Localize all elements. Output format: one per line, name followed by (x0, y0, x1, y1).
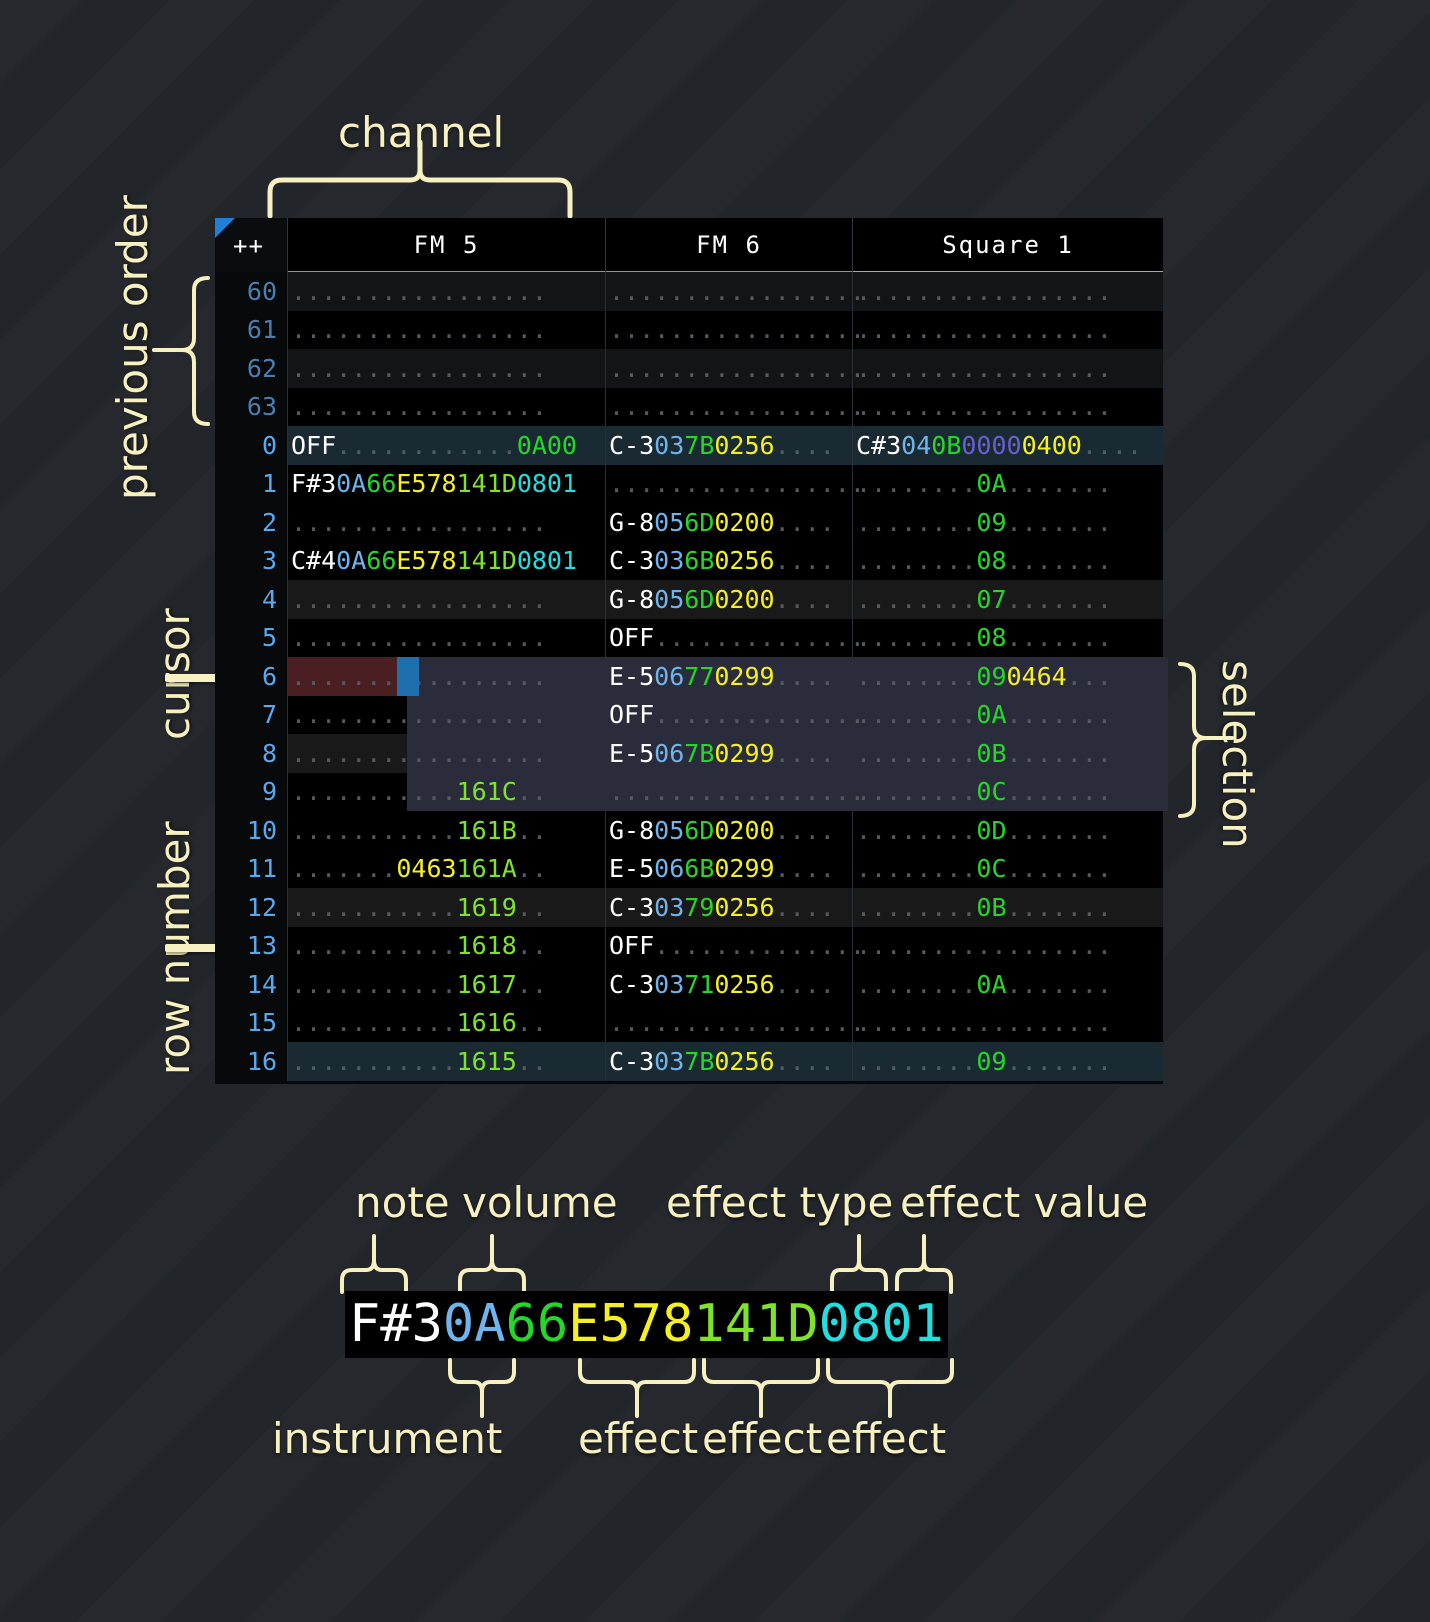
pattern-token: ................. (291, 508, 547, 537)
pattern-token: ................. (856, 931, 1112, 960)
row-number-cell: 0 (215, 426, 287, 465)
pattern-token: 6D (684, 585, 714, 614)
pattern-token: 6B (684, 854, 714, 883)
pattern-token: 66 (366, 469, 396, 498)
pattern-cell-fm5[interactable]: ...........161B.. (287, 811, 605, 850)
pattern-token: .... (775, 739, 835, 768)
pattern-token: 1616 (457, 1008, 517, 1037)
pattern-token: 08 (976, 546, 1006, 575)
pattern-cell-fm5[interactable]: ................. (287, 503, 605, 542)
pattern-token: .. (517, 816, 547, 845)
row-number-cell: 11 (215, 850, 287, 889)
pattern-cell-square1[interactable]: ........0B....... (852, 888, 1168, 927)
pattern-token: 77 (684, 662, 714, 691)
pattern-token: .. (517, 1047, 547, 1076)
pattern-cell-square1[interactable]: ................. (852, 349, 1168, 388)
legend-token: 141D (693, 1294, 818, 1354)
effect1-brace (578, 1358, 696, 1406)
pattern-token: ... (1067, 662, 1112, 691)
pattern-token: .. (517, 1008, 547, 1037)
pattern-token: OFF (609, 623, 654, 652)
pattern-token: ................. (609, 392, 865, 421)
channel-header-square1[interactable]: Square 1 (852, 218, 1163, 272)
pattern-token: 0256 (714, 970, 774, 999)
pattern-token: ................. (609, 277, 865, 306)
pattern-token: 0A (976, 970, 1006, 999)
pattern-token: ................. (291, 585, 547, 614)
pattern-token: 0801 (517, 469, 577, 498)
pattern-token: 0B (976, 739, 1006, 768)
annotation-effect-3: effect (826, 1414, 946, 1463)
row-number-cell: 6 (215, 657, 287, 696)
pattern-cell-fm6[interactable]: OFF.............. (605, 619, 852, 658)
pattern-token: C#4 (291, 546, 336, 575)
pattern-token: 05 (654, 816, 684, 845)
row-cells: ...........1619..C-303790256............… (287, 888, 1168, 927)
pattern-token: 09 (976, 508, 1006, 537)
pattern-token: ........ (856, 469, 976, 498)
pattern-token: 0D (976, 816, 1006, 845)
pattern-cell-square1[interactable]: ........07....... (852, 580, 1168, 619)
pattern-cell-fm5[interactable]: ................. (287, 388, 605, 427)
selection-brace (1178, 662, 1228, 820)
row-number-cell: 5 (215, 619, 287, 658)
row-number-cell: 13 (215, 927, 287, 966)
pattern-token: ........... (291, 970, 457, 999)
row-cells: ...........161C.........................… (287, 773, 1168, 812)
pattern-cell-square1[interactable]: ........0D....... (852, 811, 1168, 850)
pattern-token: ................. (291, 392, 547, 421)
row-cells: ...........1616.........................… (287, 1004, 1168, 1043)
pattern-token: .... (775, 893, 835, 922)
pattern-token: 66 (366, 546, 396, 575)
pattern-token: 03 (654, 893, 684, 922)
pattern-token: .... (775, 546, 835, 575)
pattern-token: ........ (856, 662, 976, 691)
row-number-cell: 15 (215, 1004, 287, 1043)
pattern-token: .... (775, 662, 835, 691)
pattern-token: 0B (931, 431, 961, 460)
pattern-token: 0400 (1022, 431, 1082, 460)
pattern-token: ............ (336, 431, 517, 460)
pattern-cell-square1[interactable]: ................. (852, 1004, 1168, 1043)
pattern-cell-fm6[interactable]: ................. (605, 465, 852, 504)
row-cells: C#40A66E578141D0801C-3036B0256..........… (287, 542, 1168, 581)
channel-header-fm6[interactable]: FM 6 (605, 218, 852, 272)
pattern-token: ................. (609, 777, 865, 806)
pattern-token: ....... (1007, 739, 1112, 768)
pattern-cell-fm6[interactable]: ................. (605, 1004, 852, 1043)
pattern-cell-fm6[interactable]: C-303790256.... (605, 888, 852, 927)
pattern-cell-fm5[interactable]: C#40A66E578141D0801 (287, 542, 605, 581)
table-row[interactable]: 10...........161B..G-8056D0200..........… (215, 811, 1163, 850)
row-cells: ...........1615..C-3037B0256............… (287, 1042, 1168, 1081)
pattern-cell-fm6[interactable]: E-506770299.... (605, 657, 852, 696)
pattern-token: 0A (336, 546, 366, 575)
pattern-cell-fm5[interactable]: ................. (287, 311, 605, 350)
pattern-token: ........... (291, 816, 457, 845)
pattern-token: .. (517, 970, 547, 999)
channel-header-label: Square 1 (942, 231, 1074, 259)
pattern-cell-fm5[interactable]: ...........1615.. (287, 1042, 605, 1081)
pattern-token: 161A (457, 854, 517, 883)
pattern-cell-fm5[interactable]: F#30A66E578141D0801 (287, 465, 605, 504)
pattern-cell-fm6[interactable]: ................. (605, 311, 852, 350)
table-row[interactable]: 16...........1615..C-3037B0256..........… (215, 1042, 1163, 1081)
pattern-token: .... (775, 431, 835, 460)
pattern-cell-square1[interactable]: ........0A....... (852, 696, 1168, 735)
row-number-cell: 9 (215, 773, 287, 812)
pattern-editor[interactable]: ++ FM 5 FM 6 Square 1 60................… (215, 218, 1163, 1084)
pattern-token: ........... (291, 777, 457, 806)
pattern-token: ....... (1007, 816, 1112, 845)
effect2-brace (702, 1358, 820, 1406)
pattern-token: 1619 (457, 893, 517, 922)
legend-token: 0A (443, 1294, 506, 1354)
pattern-cell-square1[interactable]: ........0A....... (852, 965, 1168, 1004)
pattern-token: 0A (976, 700, 1006, 729)
pattern-cell-fm6[interactable]: E-5067B0299.... (605, 734, 852, 773)
pattern-token: ........ (856, 816, 976, 845)
pattern-cell-fm6[interactable]: C-303710256.... (605, 965, 852, 1004)
pattern-token: ....... (1007, 970, 1112, 999)
pattern-token: 0801 (517, 546, 577, 575)
table-row[interactable]: 11.......0463161A..E-5066B0299..........… (215, 850, 1163, 889)
pattern-cell-fm6[interactable]: OFF.............. (605, 927, 852, 966)
table-row[interactable]: 8.................E-5067B0299...........… (215, 734, 1163, 773)
pattern-token: ....... (1007, 546, 1112, 575)
table-row[interactable]: 61......................................… (215, 311, 1163, 350)
pattern-token: 0200 (714, 585, 774, 614)
pattern-cell-fm5[interactable]: ................. (287, 696, 605, 735)
pattern-token: 09 (976, 1047, 1006, 1076)
pattern-cell-fm5[interactable]: ...........1618.. (287, 927, 605, 966)
pattern-token: 7B (684, 1047, 714, 1076)
pattern-token: .... (775, 970, 835, 999)
pattern-token: ................. (609, 315, 865, 344)
pattern-cell-fm6[interactable]: ................. (605, 349, 852, 388)
effect-type-brace (830, 1250, 888, 1295)
pattern-token: .............. (654, 700, 865, 729)
table-row[interactable]: 7.................OFF...................… (215, 696, 1163, 735)
pattern-token: 7B (684, 431, 714, 460)
table-row[interactable]: 0OFF............0A00C-3037B0256....C#304… (215, 426, 1163, 465)
pattern-token: ....... (1007, 700, 1112, 729)
table-row[interactable]: 14...........1617..C-303710256..........… (215, 965, 1163, 1004)
pattern-token: 6D (684, 508, 714, 537)
row-number-cell: 3 (215, 542, 287, 581)
table-row[interactable]: 2.................G-8056D0200...........… (215, 503, 1163, 542)
pattern-token: ........ (856, 546, 976, 575)
pattern-cell-fm6[interactable]: OFF.............. (605, 696, 852, 735)
pattern-token: 141D (457, 469, 517, 498)
pattern-cell-fm5[interactable]: ...........1617.. (287, 965, 605, 1004)
pattern-cell-fm6[interactable]: E-5066B0299.... (605, 850, 852, 889)
pattern-cell-square1[interactable]: ........08....... (852, 542, 1168, 581)
pattern-cell-fm6[interactable]: ................. (605, 272, 852, 311)
table-row[interactable]: 6.................E-506770299...........… (215, 657, 1163, 696)
pattern-token: C-3 (609, 431, 654, 460)
pattern-token: .. (517, 777, 547, 806)
pattern-token: ....... (1007, 585, 1112, 614)
pattern-cell-square1[interactable]: C#3040B00000400.... (852, 426, 1168, 465)
row-cells: ........................................… (287, 272, 1168, 311)
table-row[interactable]: 3C#40A66E578141D0801C-3036B0256.........… (215, 542, 1163, 581)
pattern-token: ................. (291, 700, 547, 729)
row-cells: .................G-8056D0200............… (287, 503, 1168, 542)
pattern-token: 0200 (714, 816, 774, 845)
pattern-token: ....... (1007, 777, 1112, 806)
pattern-cell-square1[interactable]: ........09....... (852, 1042, 1168, 1081)
pattern-token: 05 (654, 508, 684, 537)
pattern-token: E578 (396, 546, 456, 575)
pattern-token: 0464 (1007, 662, 1067, 691)
pattern-token: 161B (457, 816, 517, 845)
pattern-token: 03 (654, 1047, 684, 1076)
pattern-token: ................. (609, 469, 865, 498)
pattern-token: 71 (684, 970, 714, 999)
pattern-token: ........... (291, 1008, 457, 1037)
pattern-token: 04 (901, 431, 931, 460)
pattern-cell-fm6[interactable]: ................. (605, 388, 852, 427)
volume-brace (458, 1250, 528, 1295)
pattern-token: 0299 (714, 854, 774, 883)
pattern-token: OFF (291, 431, 336, 460)
pattern-cell-fm6[interactable]: C-3036B0256.... (605, 542, 852, 581)
table-row[interactable]: 4.................G-8056D0200...........… (215, 580, 1163, 619)
pattern-token: 0A (336, 469, 366, 498)
pattern-token: 141D (457, 546, 517, 575)
pattern-token: ........ (856, 854, 976, 883)
annotation-previous-order: previous order (108, 195, 157, 500)
table-row[interactable]: 60......................................… (215, 272, 1163, 311)
pattern-token: 6D (684, 816, 714, 845)
pattern-token: 05 (654, 585, 684, 614)
pattern-token: .... (775, 1047, 835, 1076)
pattern-token: 0000 (961, 431, 1021, 460)
corner-triangle-icon (215, 218, 235, 238)
pattern-token: E578 (396, 469, 456, 498)
pattern-token: .... (775, 854, 835, 883)
pattern-token: ....... (1007, 623, 1112, 652)
pattern-cell-fm6[interactable]: G-8056D0200.... (605, 580, 852, 619)
table-row[interactable]: 13...........1618..OFF..................… (215, 927, 1163, 966)
order-corner-label: ++ (233, 232, 264, 260)
pattern-token: E-5 (609, 662, 654, 691)
pattern-token: ........ (856, 1047, 976, 1076)
pattern-token: ....... (1007, 469, 1112, 498)
row-cells: ...........161B..G-8056D0200............… (287, 811, 1168, 850)
pattern-token: .. (517, 893, 547, 922)
row-cells: ........................................… (287, 311, 1168, 350)
pattern-token: E-5 (609, 854, 654, 883)
pattern-token: ........ (856, 700, 976, 729)
row-number-cell: 62 (215, 349, 287, 388)
pattern-token: .............. (654, 623, 865, 652)
table-row[interactable]: 1F#30A66E578141D0801....................… (215, 465, 1163, 504)
pattern-token: 7B (684, 739, 714, 768)
pattern-cell-fm5[interactable]: ...........1619.. (287, 888, 605, 927)
row-cells: ........................................… (287, 349, 1168, 388)
row-number-cell: 10 (215, 811, 287, 850)
pattern-token: 1617 (457, 970, 517, 999)
pattern-token: ................. (291, 354, 547, 383)
pattern-token: 0299 (714, 739, 774, 768)
pattern-token: 07 (976, 585, 1006, 614)
pattern-cell-square1[interactable]: ........090464... (852, 657, 1168, 696)
table-row[interactable]: 5.................OFF...................… (215, 619, 1163, 658)
pattern-token: .... (1082, 431, 1142, 460)
pattern-token: ....... (1007, 508, 1112, 537)
pattern-token: .. (517, 854, 547, 883)
row-number-cell: 7 (215, 696, 287, 735)
pattern-token: 0B (976, 893, 1006, 922)
pattern-token: ................. (291, 623, 547, 652)
pattern-token: 06 (654, 662, 684, 691)
row-cells: .................OFF....................… (287, 619, 1168, 658)
pattern-cell-fm5[interactable]: ................. (287, 734, 605, 773)
pattern-cell-fm5[interactable]: ................. (287, 657, 605, 696)
pattern-cell-fm6[interactable]: G-8056D0200.... (605, 811, 852, 850)
channel-header-label: FM 5 (414, 231, 480, 259)
pattern-token: 0200 (714, 508, 774, 537)
table-row[interactable]: 62......................................… (215, 349, 1163, 388)
pattern-token: G-8 (609, 585, 654, 614)
annotation-effect-1: effect (578, 1414, 698, 1463)
pattern-token: ................. (291, 315, 547, 344)
pattern-token: C#3 (856, 431, 901, 460)
pattern-token: 08 (976, 623, 1006, 652)
row-cells: ...........1618..OFF....................… (287, 927, 1168, 966)
instrument-brace (448, 1358, 518, 1406)
order-corner-cell[interactable]: ++ (215, 218, 287, 272)
pattern-token: OFF (609, 700, 654, 729)
pattern-token: 03 (654, 431, 684, 460)
pattern-token: ........ (856, 585, 976, 614)
pattern-token: .. (517, 931, 547, 960)
row-number-cell: 60 (215, 272, 287, 311)
pattern-token: C-3 (609, 1047, 654, 1076)
pattern-cell-fm5[interactable]: ................. (287, 349, 605, 388)
pattern-cell-square1[interactable]: ........0C....... (852, 850, 1168, 889)
row-number-cell: 2 (215, 503, 287, 542)
pattern-token: 1618 (457, 931, 517, 960)
pattern-cell-fm5[interactable]: OFF............0A00 (287, 426, 605, 465)
pattern-token: 0A00 (517, 431, 577, 460)
pattern-token: 0C (976, 854, 1006, 883)
annotation-volume: volume (462, 1178, 618, 1227)
pattern-cell-fm5[interactable]: ...........1616.. (287, 1004, 605, 1043)
pattern-token: ........ (856, 893, 976, 922)
pattern-token: 0256 (714, 546, 774, 575)
pattern-token: C-3 (609, 546, 654, 575)
pattern-token: 6B (684, 546, 714, 575)
row-number-cell: 61 (215, 311, 287, 350)
pattern-token: ....... (1007, 1047, 1112, 1076)
pattern-token: ........... (291, 1047, 457, 1076)
row-cells: OFF............0A00C-3037B0256....C#3040… (287, 426, 1168, 465)
pattern-token: 06 (654, 854, 684, 883)
table-row[interactable]: 63......................................… (215, 388, 1163, 427)
pattern-token: 0A (976, 469, 1006, 498)
pattern-token: ........... (291, 893, 457, 922)
pattern-cell-square1[interactable]: ........08....... (852, 619, 1168, 658)
row-cells: ........................................… (287, 388, 1168, 427)
pattern-token: ........ (856, 623, 976, 652)
pattern-cell-square1[interactable]: ................. (852, 388, 1168, 427)
pattern-cell-square1[interactable]: ................. (852, 927, 1168, 966)
pattern-token: ................. (291, 277, 547, 306)
pattern-cell-fm6[interactable]: C-3037B0256.... (605, 1042, 852, 1081)
pattern-cell-square1[interactable]: ........0A....... (852, 465, 1168, 504)
pattern-token: .... (775, 585, 835, 614)
pattern-token: 0256 (714, 1047, 774, 1076)
table-row[interactable]: 9...........161C........................… (215, 773, 1163, 812)
pattern-token: C-3 (609, 893, 654, 922)
channel-header-label: FM 6 (696, 231, 762, 259)
pattern-token: 0C (976, 777, 1006, 806)
pattern-token: ....... (291, 854, 396, 883)
channel-header-fm5[interactable]: FM 5 (287, 218, 605, 272)
pattern-token: ................. (856, 1008, 1112, 1037)
pattern-cell-fm6[interactable]: C-3037B0256.... (605, 426, 852, 465)
pattern-cell-fm5[interactable]: ................. (287, 272, 605, 311)
pattern-cell-fm5[interactable]: ................. (287, 580, 605, 619)
legend-token: E578 (568, 1294, 693, 1354)
channel-brace (268, 168, 578, 218)
pattern-cell-fm5[interactable]: .......0463161A.. (287, 850, 605, 889)
row-cells: .................G-8056D0200............… (287, 580, 1168, 619)
pattern-cell-square1[interactable]: ........0B....... (852, 734, 1168, 773)
effect3-brace (826, 1358, 954, 1406)
effect-value-brace (895, 1250, 953, 1295)
table-row[interactable]: 12...........1619..C-303790256..........… (215, 888, 1163, 927)
edit-cursor[interactable] (397, 657, 420, 696)
annotation-effect-type: effect type (666, 1178, 893, 1227)
pattern-cell-square1[interactable]: ................. (852, 272, 1168, 311)
pattern-token: OFF (609, 931, 654, 960)
row-number-cell: 63 (215, 388, 287, 427)
pattern-token: G-8 (609, 508, 654, 537)
pattern-rows[interactable]: 60......................................… (215, 272, 1163, 1081)
pattern-token: .... (775, 508, 835, 537)
table-row[interactable]: 15...........1616.......................… (215, 1004, 1163, 1043)
pattern-cell-fm5[interactable]: ................. (287, 619, 605, 658)
pattern-cell-fm6[interactable]: ................. (605, 773, 852, 812)
row-cells: .......0463161A..E-5066B0299............… (287, 850, 1168, 889)
pattern-cell-fm6[interactable]: G-8056D0200.... (605, 503, 852, 542)
annotation-effect-value: effect value (900, 1178, 1148, 1227)
pattern-cell-fm5[interactable]: ...........161C.. (287, 773, 605, 812)
pattern-cell-square1[interactable]: ........0C....... (852, 773, 1168, 812)
row-cells: .................OFF....................… (287, 696, 1168, 735)
pattern-token: 0256 (714, 893, 774, 922)
pattern-token: ................. (856, 392, 1112, 421)
legend-pattern-cell: F#30A66E578141D0801 (345, 1291, 948, 1358)
pattern-token: 06 (654, 739, 684, 768)
pattern-token: ........ (856, 508, 976, 537)
pattern-cell-square1[interactable]: ................. (852, 311, 1168, 350)
pattern-token: E-5 (609, 739, 654, 768)
pattern-cell-square1[interactable]: ........09....... (852, 503, 1168, 542)
row-number-cell: 12 (215, 888, 287, 927)
row-cells: .................E-506770299............… (287, 657, 1168, 696)
pattern-token: ................. (856, 315, 1112, 344)
pattern-header-row: ++ FM 5 FM 6 Square 1 (215, 218, 1163, 272)
pattern-token: 03 (654, 546, 684, 575)
pattern-token: ................. (609, 354, 865, 383)
legend-token: 0801 (819, 1294, 944, 1354)
